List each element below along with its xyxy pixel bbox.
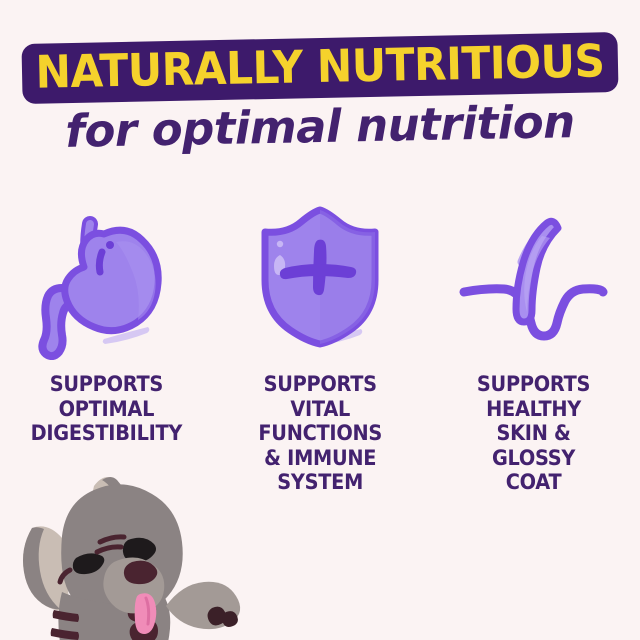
benefit-label: SUPPORTS OPTIMAL DIGESTIBILITY <box>31 372 183 446</box>
benefit-column-immune: SUPPORTS VITAL FUNCTIONS & IMMUNE SYSTEM <box>213 200 426 495</box>
headline-subtitle: for optimal nutrition <box>0 98 640 155</box>
benefits-row: SUPPORTS OPTIMAL DIGESTIBILITY <box>0 200 640 495</box>
promo-poster: NATURALLY NUTRITIOUS for optimal nutriti… <box>0 0 640 640</box>
banner-title: NATURALLY NUTRITIOUS <box>39 32 600 103</box>
french-bulldog-illustration <box>0 466 248 640</box>
shield-plus-icon <box>245 200 395 360</box>
benefit-column-skin-coat: SUPPORTS HEALTHY SKIN & GLOSSY COAT <box>427 200 640 495</box>
benefit-column-digestibility: SUPPORTS OPTIMAL DIGESTIBILITY <box>0 200 213 495</box>
stomach-icon <box>32 200 182 360</box>
benefit-label: SUPPORTS VITAL FUNCTIONS & IMMUNE SYSTEM <box>258 372 382 495</box>
headline-banner: NATURALLY NUTRITIOUS <box>21 32 618 104</box>
benefit-label: SUPPORTS HEALTHY SKIN & GLOSSY COAT <box>477 372 590 495</box>
hair-follicle-icon <box>458 200 608 360</box>
